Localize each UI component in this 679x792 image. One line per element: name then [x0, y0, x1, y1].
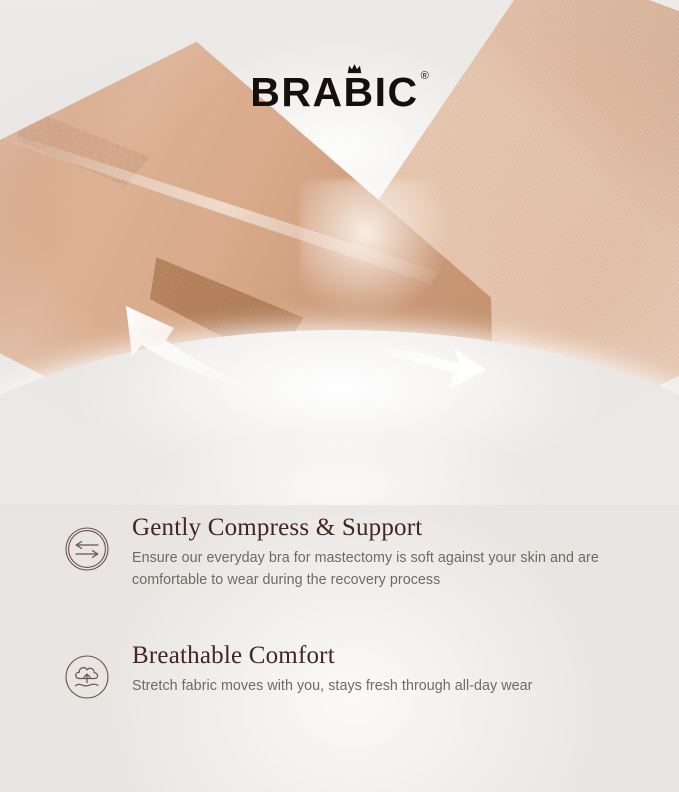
breathable-cloud-icon — [64, 654, 110, 700]
crown-diacritic-icon — [346, 63, 363, 74]
registered-trademark-icon: ® — [421, 70, 429, 82]
feature-text-block: Gently Compress & Support Ensure our eve… — [132, 512, 655, 592]
brand-logo-part-2: A — [312, 69, 343, 115]
brand-logo-part-1: BR — [250, 69, 312, 115]
feature-item-compress: Gently Compress & Support Ensure our eve… — [0, 512, 679, 592]
brand-logo-text: BRABIC® — [250, 72, 429, 113]
stretch-arrow-left — [112, 300, 262, 390]
stretch-arrow-right — [368, 330, 488, 392]
feature-title: Gently Compress & Support — [132, 512, 655, 543]
feature-item-breathable: Breathable Comfort Stretch fabric moves … — [0, 640, 679, 700]
brand-logo: BRABIC® — [0, 72, 679, 113]
compress-arrows-icon — [64, 526, 110, 572]
feature-list: Gently Compress & Support Ensure our eve… — [0, 512, 679, 700]
feature-description: Stretch fabric moves with you, stays fre… — [132, 675, 655, 697]
product-feature-page: BRABIC® Gently Compress & Support — [0, 0, 679, 792]
feature-title: Breathable Comfort — [132, 640, 655, 671]
feature-text-block: Breathable Comfort Stretch fabric moves … — [132, 640, 655, 697]
feature-description: Ensure our everyday bra for mastectomy i… — [132, 547, 655, 591]
hero-under-glow — [20, 392, 660, 505]
brand-logo-part-3: BIC — [344, 69, 419, 115]
